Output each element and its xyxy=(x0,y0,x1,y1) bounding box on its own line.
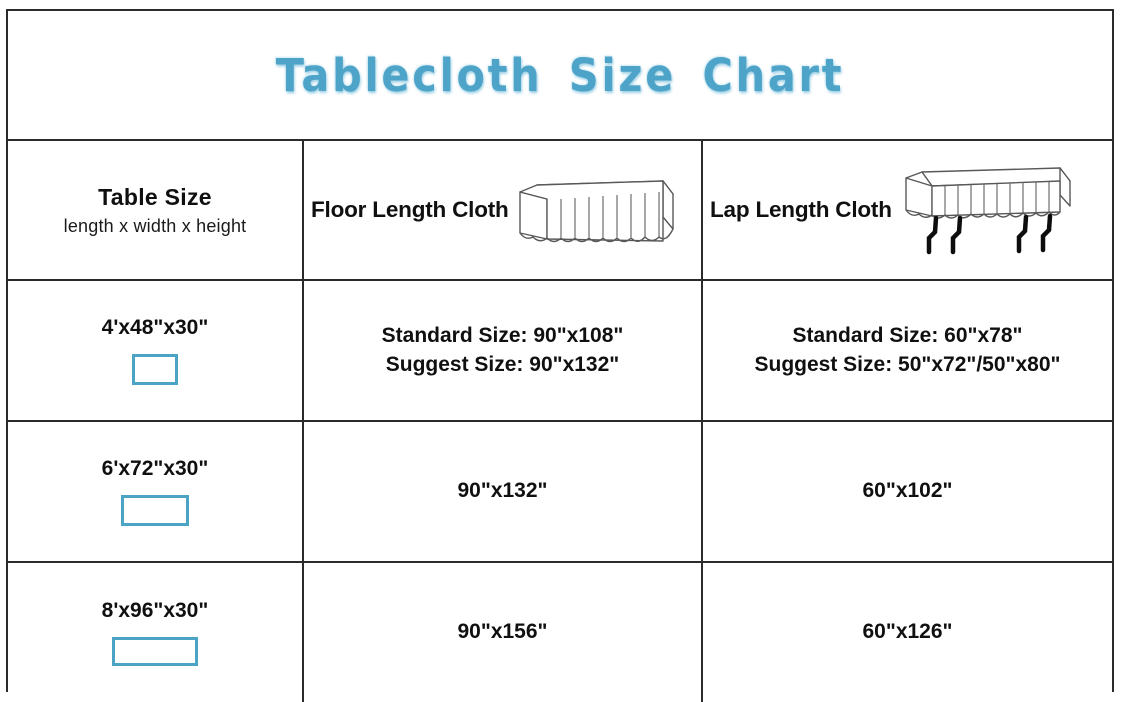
floor-size: 90"x132" xyxy=(304,477,701,505)
table-size-subtitle: length x width x height xyxy=(8,215,302,238)
table-size-title: Table Size xyxy=(8,183,302,212)
lap-length-label: Lap Length Cloth xyxy=(710,197,892,223)
page-title: Tablecloth Size Chart xyxy=(276,53,845,98)
table-row: 4'x48"x30" Standard Size: 90"x108" Sugge… xyxy=(8,280,1112,421)
table-size-heading: Table Size length x width x height xyxy=(8,183,302,237)
floor-length-sizes: 90"x132" xyxy=(304,477,701,505)
floor-length-tablecloth-icon xyxy=(515,167,677,253)
lap-standard-size: Standard Size: 60"x78" xyxy=(703,322,1112,350)
table-size-group: 8'x96"x30" xyxy=(8,563,302,702)
floor-size: 90"x156" xyxy=(304,618,701,646)
table-shape-indicator xyxy=(112,637,198,666)
table-shape-indicator xyxy=(132,354,178,385)
cell-floor-length: 90"x132" xyxy=(303,421,702,562)
table-row: 8'x96"x30" 90"x156" 60"x126" xyxy=(8,562,1112,702)
lap-length-tablecloth-icon xyxy=(898,160,1078,260)
title-row: Tablecloth Size Chart xyxy=(8,11,1112,140)
cell-lap-length: 60"x102" xyxy=(702,421,1112,562)
title-cell: Tablecloth Size Chart xyxy=(8,11,1112,140)
lap-length-sizes: Standard Size: 60"x78" Suggest Size: 50"… xyxy=(703,322,1112,379)
floor-length-sizes: Standard Size: 90"x108" Suggest Size: 90… xyxy=(304,322,701,379)
header-cell-floor-length: Floor Length Cloth xyxy=(303,140,702,280)
lap-length-header: Lap Length Cloth xyxy=(703,141,1112,279)
table-size-group: 4'x48"x30" xyxy=(8,281,302,420)
cell-lap-length: 60"x126" xyxy=(702,562,1112,702)
table-size-value: 8'x96"x30" xyxy=(102,599,209,623)
table-size-group: 6'x72"x30" xyxy=(8,422,302,561)
floor-standard-size: Standard Size: 90"x108" xyxy=(304,322,701,350)
lap-length-sizes: 60"x102" xyxy=(703,477,1112,505)
floor-length-label: Floor Length Cloth xyxy=(311,197,509,223)
chart-frame: Tablecloth Size Chart Table Size length … xyxy=(6,9,1114,692)
cell-floor-length: 90"x156" xyxy=(303,562,702,702)
table-size-value: 6'x72"x30" xyxy=(102,457,209,481)
cell-table-size: 6'x72"x30" xyxy=(8,421,303,562)
lap-suggest-size: Suggest Size: 50"x72"/50"x80" xyxy=(703,351,1112,379)
cell-table-size: 8'x96"x30" xyxy=(8,562,303,702)
header-cell-table-size: Table Size length x width x height xyxy=(8,140,303,280)
header-cell-lap-length: Lap Length Cloth xyxy=(702,140,1112,280)
table-size-value: 4'x48"x30" xyxy=(102,316,209,340)
floor-suggest-size: Suggest Size: 90"x132" xyxy=(304,351,701,379)
floor-length-header: Floor Length Cloth xyxy=(304,141,701,279)
table-row: 6'x72"x30" 90"x132" 60"x102" xyxy=(8,421,1112,562)
cell-floor-length: Standard Size: 90"x108" Suggest Size: 90… xyxy=(303,280,702,421)
lap-size: 60"x126" xyxy=(703,618,1112,646)
table-shape-indicator xyxy=(121,495,189,526)
cell-table-size: 4'x48"x30" xyxy=(8,280,303,421)
lap-size: 60"x102" xyxy=(703,477,1112,505)
header-row: Table Size length x width x height Floor… xyxy=(8,140,1112,280)
floor-length-sizes: 90"x156" xyxy=(304,618,701,646)
cell-lap-length: Standard Size: 60"x78" Suggest Size: 50"… xyxy=(702,280,1112,421)
tablecloth-size-chart-page: Tablecloth Size Chart Table Size length … xyxy=(0,0,1125,701)
lap-length-sizes: 60"x126" xyxy=(703,618,1112,646)
size-chart-table: Tablecloth Size Chart Table Size length … xyxy=(8,11,1112,702)
